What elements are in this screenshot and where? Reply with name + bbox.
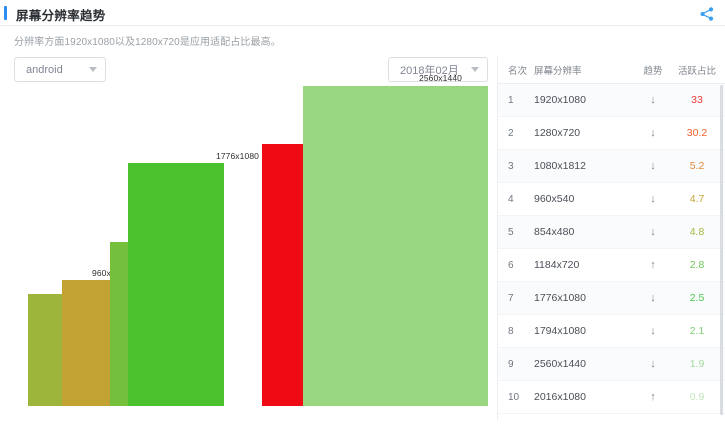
table-row[interactable]: 31080x1812↓5.2 (498, 150, 725, 183)
cell-percentage: 1.9 (674, 358, 720, 370)
trend-up-icon: ↑ (632, 259, 674, 271)
column-header-percentage: 活跃占比 (674, 63, 720, 77)
chart-bar-label: 2560x1440 (419, 73, 462, 83)
column-header-rank: 名次 (498, 63, 534, 77)
cell-resolution: 1794x1080 (534, 325, 632, 337)
cell-rank: 9 (498, 359, 534, 370)
cell-resolution: 960x540 (534, 193, 632, 205)
share-icon[interactable] (699, 6, 715, 22)
cell-percentage: 30.2 (674, 127, 720, 139)
ranking-table: 名次 屏幕分辨率 趋势 活跃占比 11920x1080↓3321280x720↓… (497, 56, 725, 420)
trend-down-icon: ↓ (632, 226, 674, 238)
trend-down-icon: ↓ (632, 127, 674, 139)
cell-rank: 8 (498, 326, 534, 337)
chevron-down-icon (471, 67, 479, 72)
cell-resolution: 1776x1080 (534, 292, 632, 304)
cell-rank: 1 (498, 95, 534, 106)
platform-select[interactable]: android (14, 57, 106, 82)
table-row[interactable]: 5854x480↓4.8 (498, 216, 725, 249)
chart-bar-label: 1776x1080 (216, 151, 259, 161)
table-scrollbar[interactable] (720, 85, 723, 415)
table-row[interactable]: 81794x1080↓2.1 (498, 315, 725, 348)
cell-resolution: 1280x720 (534, 127, 632, 139)
table-header-row: 名次 屏幕分辨率 趋势 活跃占比 (498, 56, 725, 84)
column-header-resolution: 屏幕分辨率 (534, 63, 632, 77)
widget-header: 屏幕分辨率趋势 (0, 0, 725, 26)
table-row[interactable]: 21280x720↓30.2 (498, 117, 725, 150)
cell-resolution: 1184x720 (534, 259, 632, 271)
column-header-trend: 趋势 (632, 63, 674, 77)
cell-resolution: 2560x1440 (534, 358, 632, 370)
cell-percentage: 2.5 (674, 292, 720, 304)
table-row[interactable]: 71776x1080↓2.5 (498, 282, 725, 315)
cell-rank: 2 (498, 128, 534, 139)
cell-percentage: 5.2 (674, 160, 720, 172)
cell-rank: 7 (498, 293, 534, 304)
chevron-down-icon (89, 67, 97, 72)
cell-resolution: 854x480 (534, 226, 632, 238)
table-row[interactable]: 11920x1080↓33 (498, 84, 725, 117)
resolution-bar-chart: 854x480960x5401184x7201280x7201776x10801… (0, 80, 496, 406)
trend-down-icon: ↓ (632, 325, 674, 337)
cell-rank: 3 (498, 161, 534, 172)
subtitle-text: 分辨率方面1920x1080以及1280x720是应用适配占比最高。 (14, 33, 281, 48)
resolution-trend-widget: 屏幕分辨率趋势 分辨率方面1920x1080以及1280x720是应用适配占比最… (0, 0, 725, 426)
cell-rank: 4 (498, 194, 534, 205)
table-row[interactable]: 102016x1080↑0.9 (498, 381, 725, 414)
cell-percentage: 33 (674, 94, 720, 106)
table-body: 11920x1080↓3321280x720↓30.231080x1812↓5.… (498, 84, 725, 414)
platform-select-value: android (26, 64, 63, 76)
trend-up-icon: ↑ (632, 391, 674, 403)
title-accent-bar (4, 6, 7, 20)
table-row[interactable]: 4960x540↓4.7 (498, 183, 725, 216)
table-row[interactable]: 92560x1440↓1.9 (498, 348, 725, 381)
cell-percentage: 2.1 (674, 325, 720, 337)
chart-bar[interactable]: 1776x1080 (128, 163, 224, 406)
cell-percentage: 4.7 (674, 193, 720, 205)
cell-percentage: 0.9 (674, 391, 720, 403)
page-title: 屏幕分辨率趋势 (16, 5, 106, 24)
cell-resolution: 1920x1080 (534, 94, 632, 106)
trend-down-icon: ↓ (632, 193, 674, 205)
cell-rank: 6 (498, 260, 534, 271)
cell-resolution: 1080x1812 (534, 160, 632, 172)
table-row[interactable]: 61184x720↑2.8 (498, 249, 725, 282)
cell-percentage: 2.8 (674, 259, 720, 271)
chart-bar[interactable]: 2560x1440 (303, 86, 488, 406)
trend-down-icon: ↓ (632, 160, 674, 172)
cell-percentage: 4.8 (674, 226, 720, 238)
cell-resolution: 2016x1080 (534, 391, 632, 403)
trend-down-icon: ↓ (632, 94, 674, 106)
cell-rank: 5 (498, 227, 534, 238)
trend-down-icon: ↓ (632, 292, 674, 304)
cell-rank: 10 (498, 392, 534, 403)
trend-down-icon: ↓ (632, 358, 674, 370)
